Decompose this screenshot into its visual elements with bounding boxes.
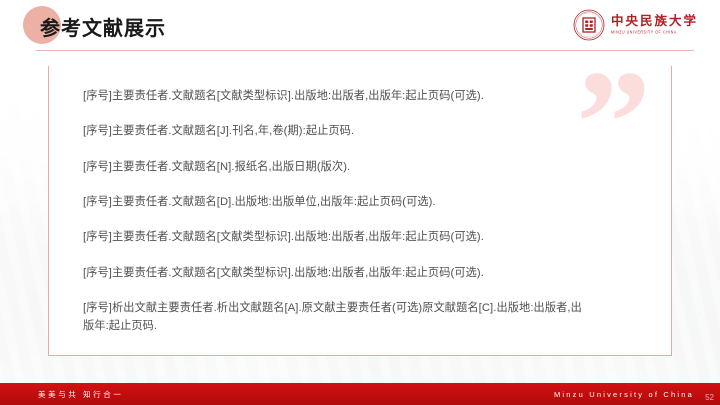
university-name-cn: 中央民族大学	[611, 15, 698, 28]
list-item: [序号]主要责任者.文献题名[N].报纸名,出版日期(版次).	[83, 159, 645, 176]
university-logo: 中央民族大学 MINZU UNIVERSITY OF CHINA	[573, 9, 698, 41]
university-seal-icon	[573, 9, 605, 41]
footer-university-name: Minzu University of China	[554, 390, 694, 399]
reference-list: [序号]主要责任者.文献题名[文献类型标识].出版地:出版者,出版年:起止页码(…	[83, 88, 645, 335]
list-item: [序号]主要责任者.文献题名[文献类型标识].出版地:出版者,出版年:起止页码(…	[83, 265, 645, 282]
slide-header: 参考文献展示 中央民族大学 MINZU UNIVERSITY OF CHINA	[0, 0, 720, 52]
list-item: [序号]主要责任者.文献题名[D].出版地:出版单位,出版年:起止页码(可选).	[83, 194, 645, 211]
footer-motto: 美美与共 知行合一	[38, 389, 123, 400]
reference-card: ” [序号]主要责任者.文献题名[文献类型标识].出版地:出版者,出版年:起止页…	[48, 66, 672, 356]
university-name-en: MINZU UNIVERSITY OF CHINA	[611, 31, 698, 35]
list-item: [序号]主要责任者.文献题名[文献类型标识].出版地:出版者,出版年:起止页码(…	[83, 229, 645, 246]
header-divider	[36, 50, 694, 51]
list-item: [序号]主要责任者.文献题名[J].刊名,年,卷(期):起止页码.	[83, 123, 645, 140]
slide: 参考文献展示 中央民族大学 MINZU UNIVERSITY OF CHINA	[0, 0, 720, 405]
list-item: [序号]析出文献主要责任者.析出文献题名[A].原文献主要责任者(可选)原文献题…	[83, 300, 588, 335]
university-logo-text: 中央民族大学 MINZU UNIVERSITY OF CHINA	[611, 15, 698, 34]
slide-footer: 美美与共 知行合一 Minzu University of China 52	[0, 383, 720, 405]
page-number: 52	[705, 393, 714, 402]
page-title: 参考文献展示	[40, 12, 166, 41]
list-item: [序号]主要责任者.文献题名[文献类型标识].出版地:出版者,出版年:起止页码(…	[83, 88, 645, 105]
